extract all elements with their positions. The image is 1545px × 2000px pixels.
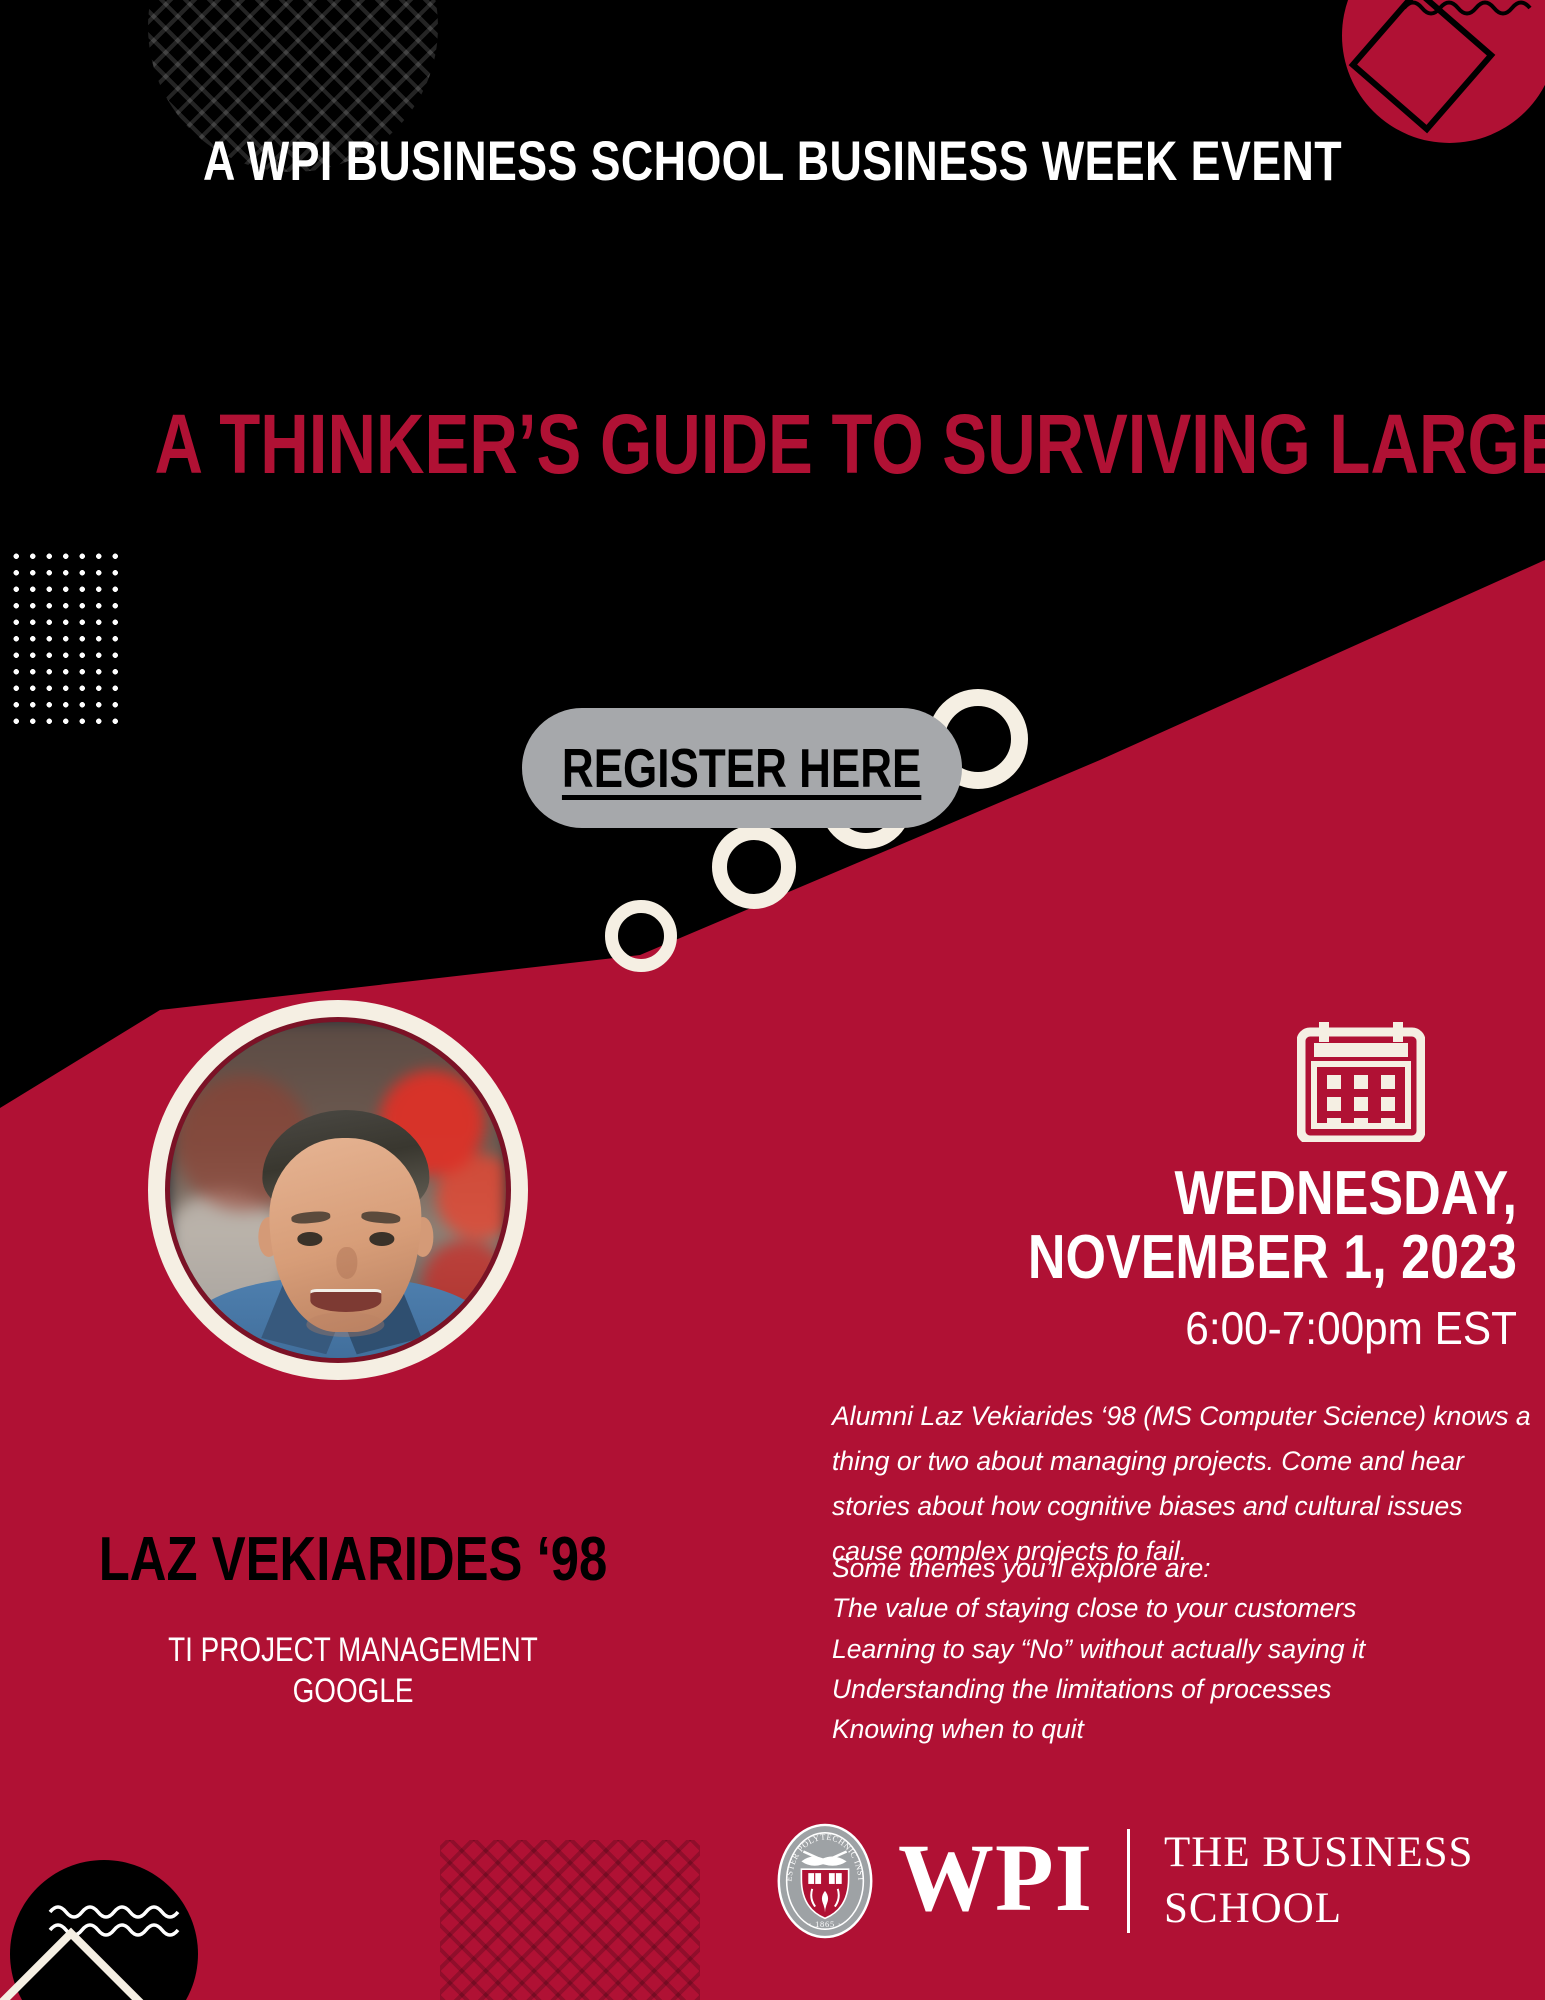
- theme-item: Learning to say “No” without actually sa…: [832, 1629, 1532, 1669]
- theme-item: Understanding the limitations of process…: [832, 1669, 1532, 1709]
- logo-divider: [1127, 1829, 1130, 1933]
- event-poster: A WPI BUSINESS SCHOOL BUSINESS WEEK EVEN…: [0, 0, 1545, 2000]
- register-button-label: REGISTER HERE: [562, 736, 921, 800]
- school-name-line-1: THE BUSINESS: [1164, 1825, 1473, 1881]
- theme-item: Knowing when to quit: [832, 1709, 1532, 1749]
- speaker-role: TI PROJECT MANAGEMENT GOOGLE: [64, 1630, 643, 1712]
- wpi-logo: WORCESTER POLYTECHNIC INSTITUTE · 1865 ·…: [766, 1822, 1473, 1940]
- dot-grid-decoration: [8, 548, 118, 726]
- calendar-icon: [1297, 1022, 1425, 1142]
- portrait-eye-left: [297, 1232, 322, 1246]
- theme-item: The value of staying close to your custo…: [832, 1588, 1532, 1628]
- wpi-wordmark: WPI: [898, 1830, 1093, 1926]
- school-name: THE BUSINESS SCHOOL: [1164, 1825, 1473, 1937]
- svg-text:· 1865 ·: · 1865 ·: [809, 1920, 842, 1929]
- portrait-chin: [307, 1312, 385, 1337]
- red-circle-decoration: [1342, 0, 1545, 143]
- chevron-pattern-bottom: [440, 1840, 700, 2000]
- event-date-line-1: WEDNESDAY,: [1175, 1159, 1517, 1228]
- event-date-line-2: NOVEMBER 1, 2023: [1028, 1223, 1517, 1292]
- speaker-portrait: [148, 1000, 528, 1380]
- register-button[interactable]: REGISTER HERE: [522, 708, 962, 828]
- themes-intro: Some themes you’ll explore are:: [832, 1548, 1532, 1588]
- event-date: WEDNESDAY, NOVEMBER 1, 2023: [879, 1162, 1517, 1291]
- event-themes: Some themes you’ll explore are: The valu…: [832, 1548, 1532, 1749]
- event-date-block: WEDNESDAY, NOVEMBER 1, 2023 6:00-7:00pm …: [757, 1162, 1517, 1355]
- portrait-mouth: [311, 1289, 381, 1311]
- page-title: A THINKER’S GUIDE TO SURVIVING LARGE PRO…: [155, 396, 1391, 493]
- speaker-name: LAZ VEKIARIDES ‘98: [64, 1524, 643, 1595]
- speaker-role-line-2: GOOGLE: [293, 1672, 414, 1710]
- portrait-eye-right: [369, 1232, 394, 1246]
- portrait-nose: [336, 1247, 357, 1279]
- school-name-line-2: SCHOOL: [1164, 1881, 1473, 1937]
- event-time: 6:00-7:00pm EST: [818, 1301, 1517, 1355]
- event-kicker: A WPI BUSINESS SCHOOL BUSINESS WEEK EVEN…: [155, 128, 1391, 193]
- portrait-face: [248, 1123, 443, 1358]
- portrait-image: [170, 1022, 506, 1358]
- wpi-seal-icon: WORCESTER POLYTECHNIC INSTITUTE · 1865 ·: [766, 1822, 884, 1940]
- speaker-role-line-1: TI PROJECT MANAGEMENT: [168, 1631, 538, 1669]
- ring-decoration-1: [605, 900, 677, 972]
- ring-decoration-2: [712, 825, 796, 909]
